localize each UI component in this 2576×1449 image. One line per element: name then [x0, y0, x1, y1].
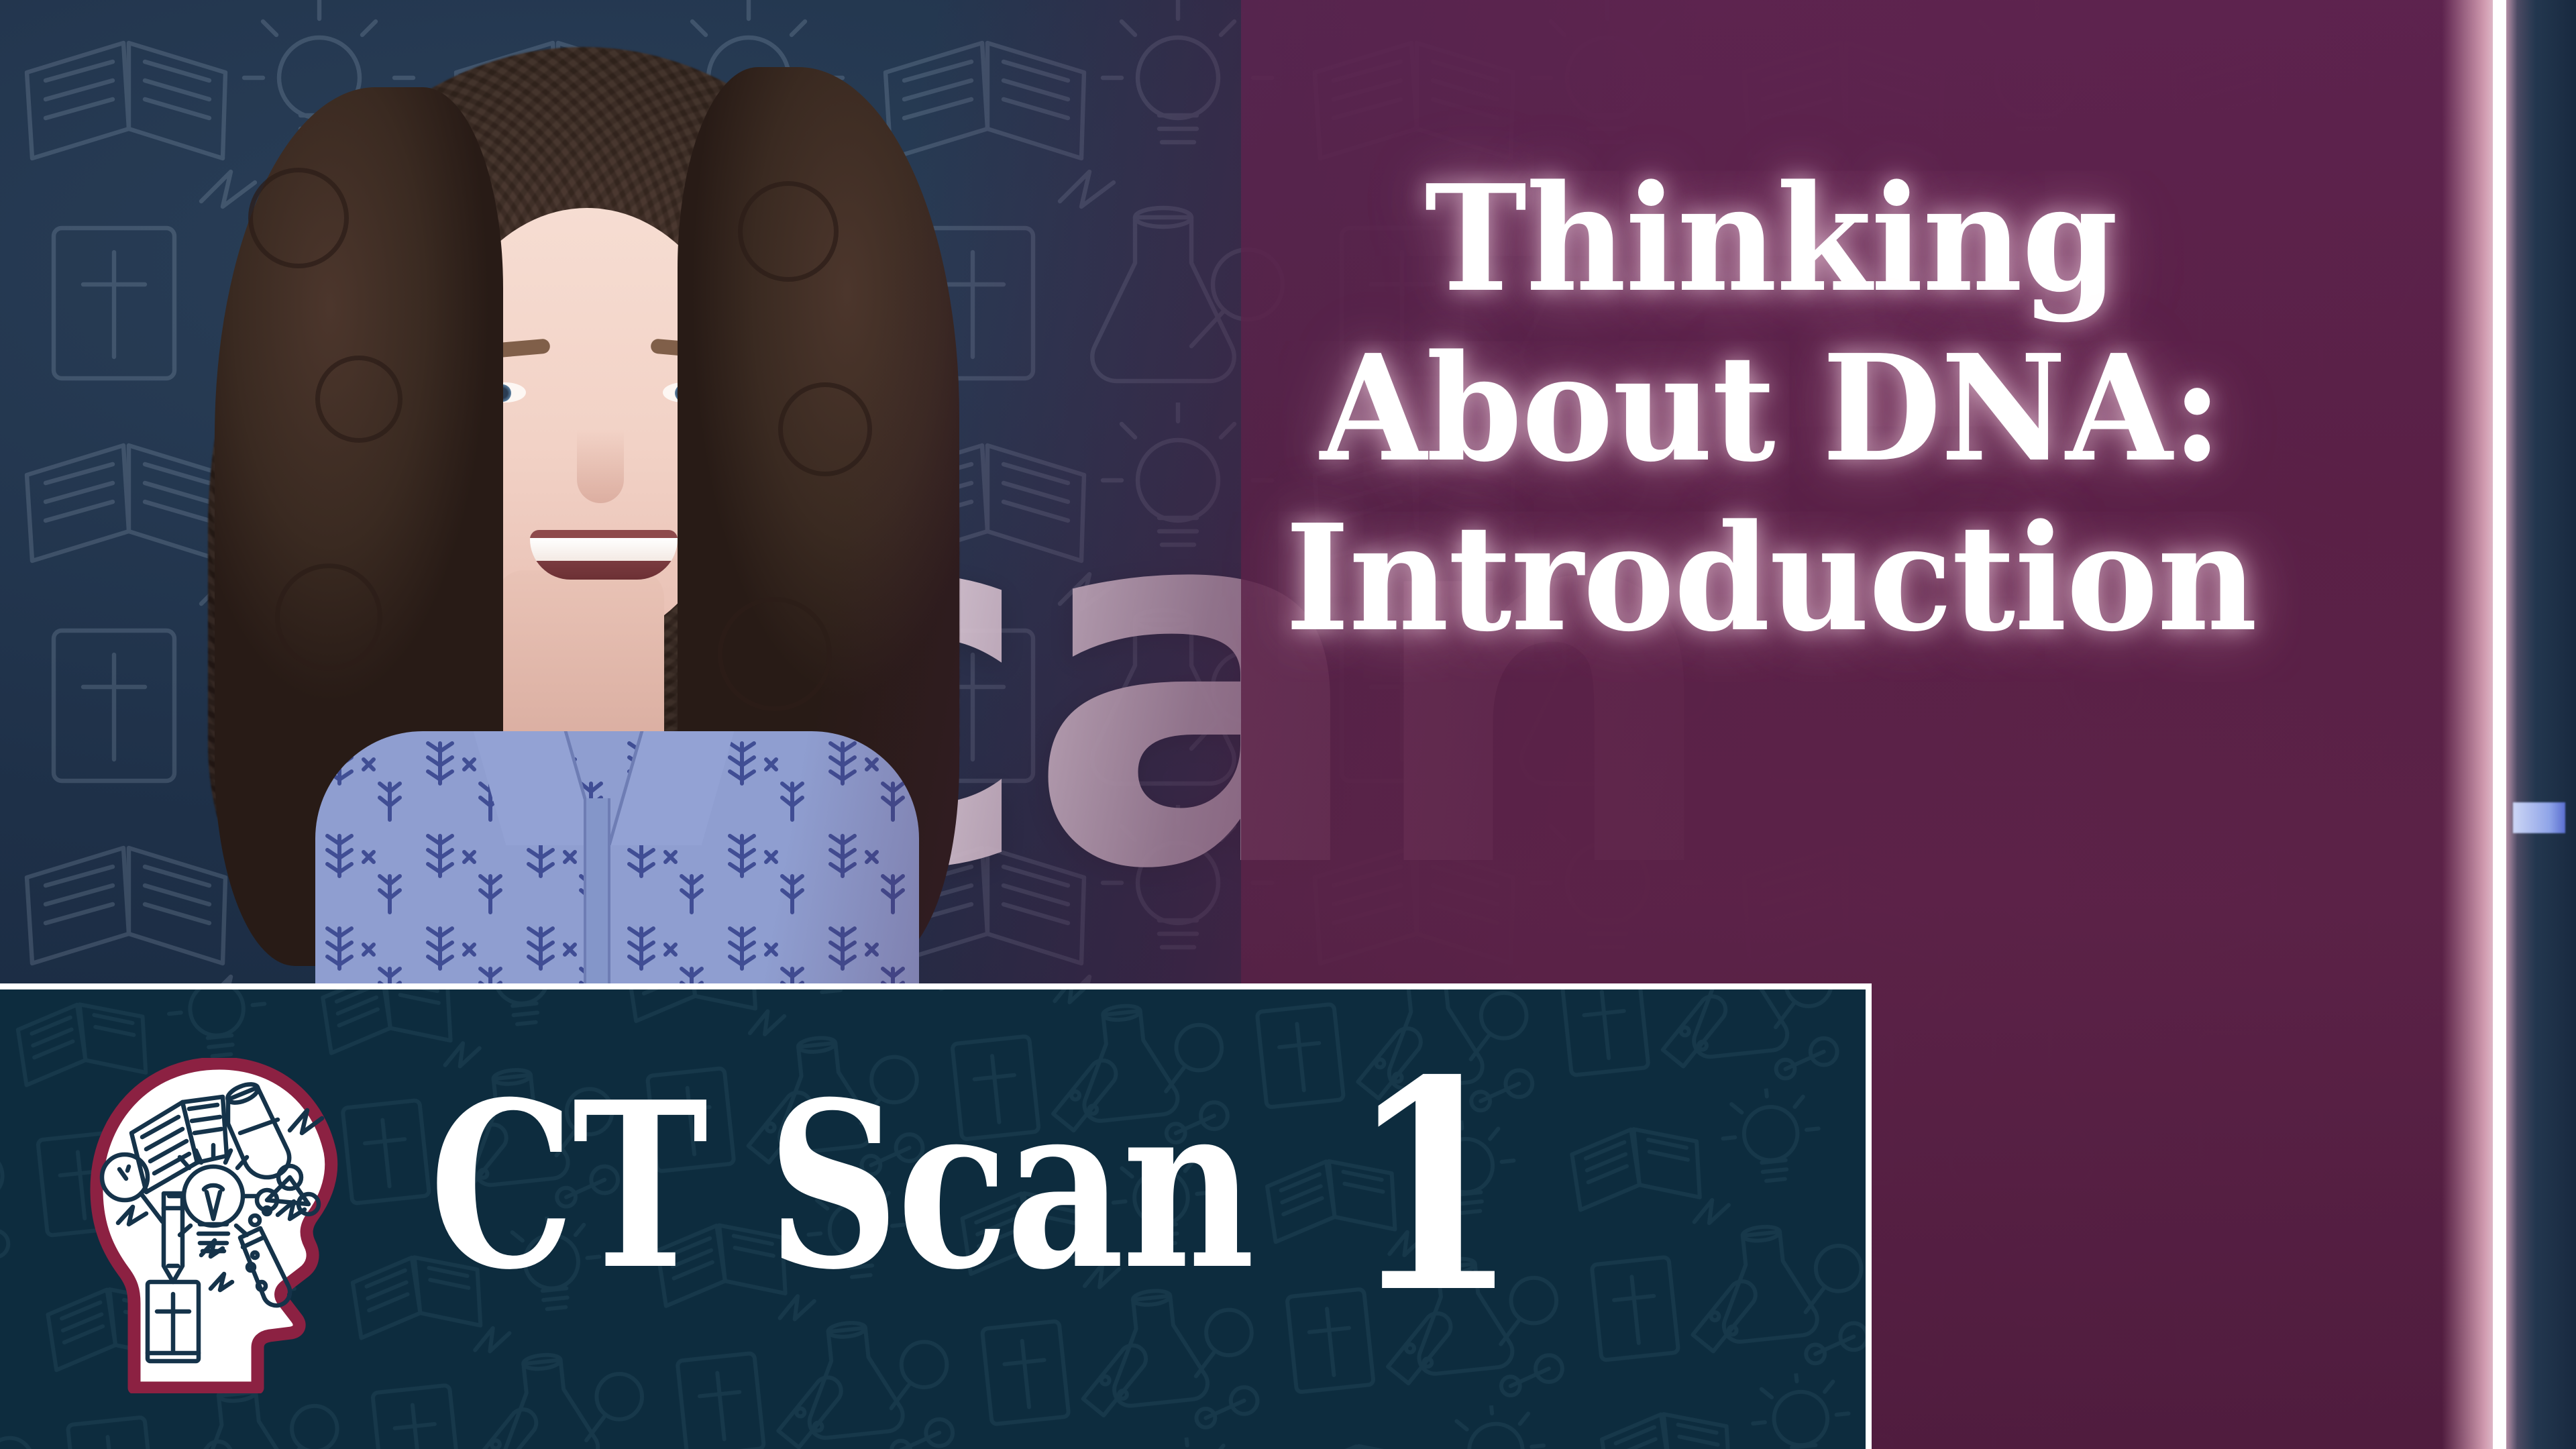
video-thumbnail: Scan [0, 0, 2576, 1449]
title-line-2: About DNA: [1279, 324, 2263, 494]
episode-number: 1 [1348, 1043, 1519, 1332]
title-line-3: Introduction [1279, 494, 2263, 663]
show-title: CT Scan [429, 1073, 1252, 1301]
right-white-stripe [2493, 0, 2506, 1449]
right-outer-panel [2506, 0, 2576, 1449]
bottom-title-bar: CT Scan 1 [0, 983, 1872, 1449]
page-title: Thinking About DNA: Introduction [1279, 154, 2263, 663]
title-line-1: Thinking [1279, 154, 2263, 324]
ct-scan-head-logo [82, 1058, 364, 1393]
